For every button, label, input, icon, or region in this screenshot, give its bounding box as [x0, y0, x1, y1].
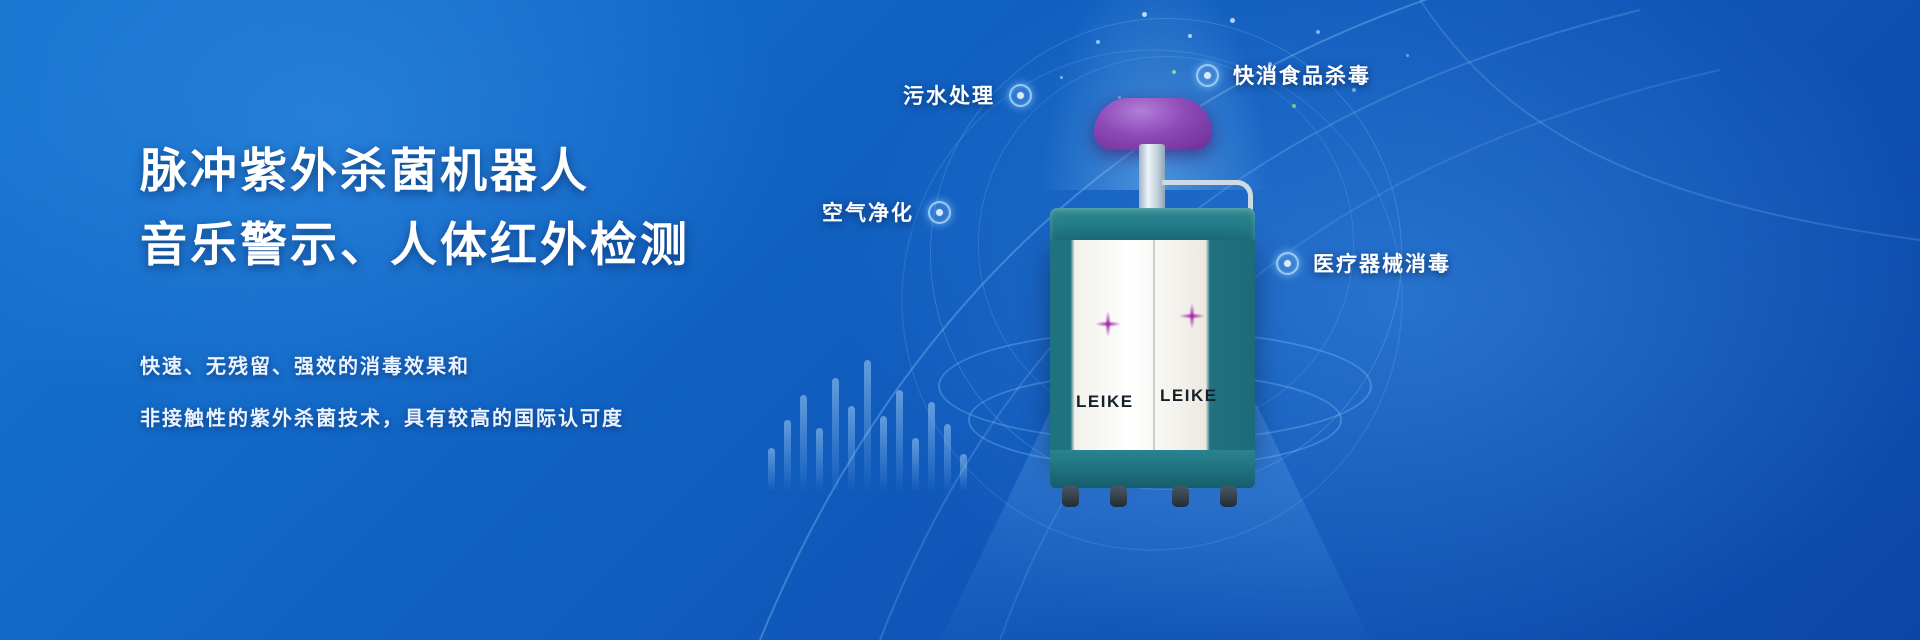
caster-wheel	[1110, 486, 1127, 507]
ring-node-icon	[1009, 84, 1032, 107]
brand-label-right: LEIKE	[1160, 386, 1218, 406]
callout-label: 快消食品杀毒	[1233, 60, 1371, 90]
sparkle-dot	[1316, 30, 1320, 34]
callout-food-sterilization[interactable]: 快消食品杀毒	[1196, 60, 1371, 90]
ring-node-icon	[1196, 64, 1219, 87]
uv-lamp-dome	[1094, 98, 1212, 150]
uv-robot-device: LEIKE LEIKE	[1022, 98, 1282, 518]
cabinet-body: LEIKE LEIKE	[1050, 240, 1255, 455]
product-banner: 脉冲紫外杀菌机器人 音乐警示、人体红外检测 快速、无残留、强效的消毒效果和 非接…	[0, 0, 1920, 640]
headline-line-2: 音乐警示、人体红外检测	[140, 222, 900, 269]
callout-label: 空气净化	[822, 197, 914, 227]
ring-node-icon	[928, 201, 951, 224]
cabinet-base	[1050, 450, 1255, 488]
callout-air-purification[interactable]: 空气净化	[822, 197, 951, 227]
uv-spark-icon	[1090, 306, 1126, 342]
description-line-1: 快速、无残留、强效的消毒效果和	[140, 356, 900, 376]
callout-label: 污水处理	[903, 80, 995, 110]
description-line-2: 非接触性的紫外杀菌技术，具有较高的国际认可度	[140, 408, 900, 428]
uv-spark-icon	[1174, 298, 1210, 334]
headline-block: 脉冲紫外杀菌机器人 音乐警示、人体红外检测 快速、无残留、强效的消毒效果和 非接…	[140, 148, 900, 428]
caster-wheel	[1172, 486, 1189, 507]
callout-water-treatment[interactable]: 污水处理	[903, 80, 1032, 110]
ring-node-icon	[1276, 252, 1299, 275]
caster-wheel	[1220, 486, 1237, 507]
callout-medical-disinfection[interactable]: 医疗器械消毒	[1276, 248, 1451, 278]
headline-line-1: 脉冲紫外杀菌机器人	[140, 148, 900, 195]
caster-wheel	[1062, 486, 1079, 507]
cabinet-seam	[1153, 240, 1155, 455]
sparkle-dot	[1406, 54, 1409, 57]
brand-label-left: LEIKE	[1076, 392, 1134, 412]
cabinet-top	[1050, 208, 1255, 244]
callout-label: 医疗器械消毒	[1313, 248, 1451, 278]
